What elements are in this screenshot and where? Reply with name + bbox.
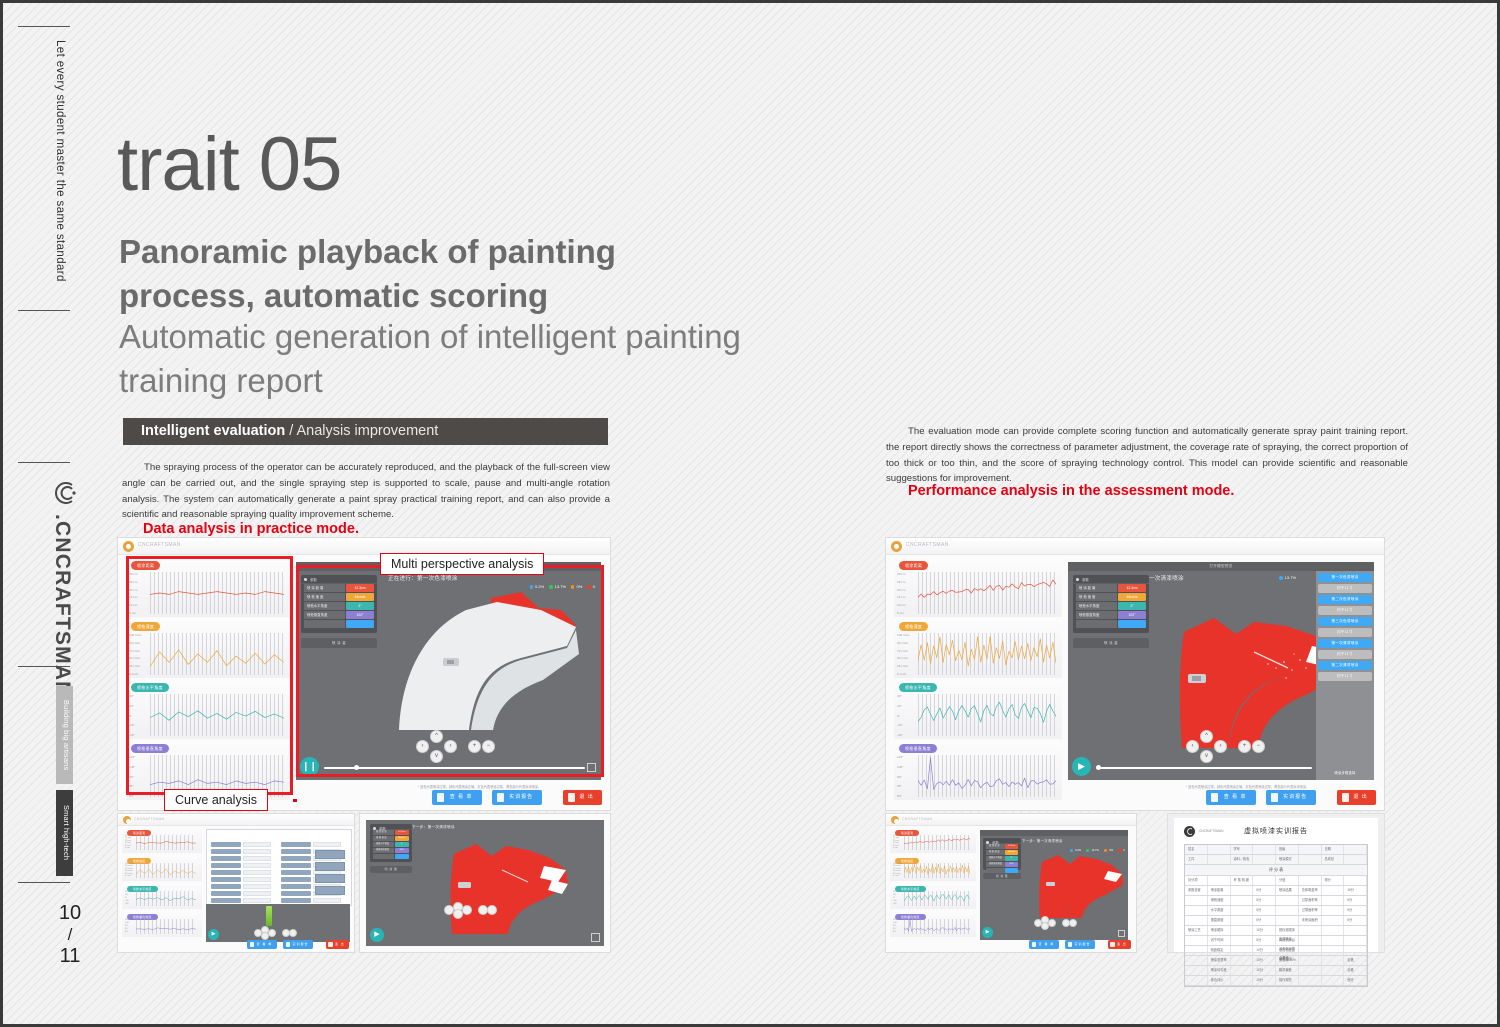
viewer-status-text: 下一步：第一次清漆喷涂 — [1022, 838, 1063, 843]
curve-y-tick: -40° — [893, 903, 897, 905]
callout-curve-analysis: Curve analysis — [164, 789, 268, 811]
curve-plot — [918, 572, 1056, 614]
curve-analysis-highlight — [126, 556, 293, 795]
viewer-controls[interactable]: ‹ ^ v › + − — [1186, 730, 1286, 760]
report-table-cell: 考 核 明 细 — [1231, 876, 1254, 885]
report-table-cell — [1276, 906, 1299, 915]
rail-divider — [18, 26, 70, 27]
curve-block: 喷枪垂直角度110°100°90°85°80° — [890, 911, 976, 937]
report-table-cell: 喷涂均匀度 — [1208, 966, 1231, 975]
curve-y-tick: 20 cm — [897, 588, 905, 592]
action-button-2[interactable]: 实训报告 — [1065, 940, 1095, 949]
curve-series — [904, 863, 970, 878]
parameter-value: 2° — [1005, 856, 1018, 861]
report-table-cell: 得分 — [1322, 876, 1345, 885]
report-table-cell: 枪距稳定 — [1208, 946, 1231, 955]
parameter-value: 102° — [395, 848, 409, 853]
action-button-1[interactable]: 查 看 单 — [1206, 790, 1256, 805]
curve-y-tick: 40° — [893, 891, 896, 893]
parameter-row — [373, 854, 409, 859]
trait-number: trait 05 — [117, 127, 341, 203]
play-button[interactable]: ▶ — [1072, 757, 1091, 776]
rotate-right-button[interactable] — [462, 905, 472, 915]
report-table-cell — [1322, 926, 1345, 935]
app-logo-icon — [891, 541, 902, 552]
report-table-cell — [1231, 936, 1254, 945]
curve-series — [918, 755, 1056, 797]
practice-form-screenshot[interactable]: CNCRAFTSMAN 喷涂距离30 cm25 cm20 cm15 cm10 c… — [118, 814, 354, 952]
report-table-cell — [1208, 845, 1231, 854]
report-table-row: 参数设置喷涂距离5分喷涂结果总体覆盖率15分 — [1185, 886, 1367, 896]
heading-bold: Panoramic playback of painting process, … — [119, 230, 759, 317]
report-table-cell — [1231, 886, 1254, 895]
rotate-right-button[interactable] — [1048, 919, 1056, 927]
form-field-value[interactable] — [243, 849, 271, 854]
report-table-cell: 重叠率 50% — [1276, 956, 1299, 965]
parameter-value: 12.3cm — [1005, 844, 1018, 849]
action-button-3[interactable]: 退 出 — [1337, 790, 1376, 805]
zoom-in-button[interactable]: + — [1238, 740, 1251, 753]
report-table-cell: 膜厚偏差 — [1276, 966, 1299, 975]
report-table-cell: 10分 — [1253, 966, 1276, 975]
form-field-label — [211, 870, 241, 875]
curve-series — [904, 891, 970, 906]
curve-plot — [136, 863, 196, 878]
report-table-cell: 涂料／颜色 — [1231, 855, 1254, 864]
progress-bar[interactable] — [1096, 767, 1312, 770]
action-button-3[interactable]: 退 出 — [563, 790, 602, 805]
form-action-chip[interactable] — [315, 874, 345, 883]
report-table-cell — [1299, 956, 1322, 965]
curve-y-tick: 90 cm/s — [897, 641, 908, 645]
report-table-cell — [1344, 855, 1367, 864]
app-title: CNCRAFTSMAN — [906, 542, 949, 548]
curve-y-tick: 0° — [125, 897, 127, 899]
report-table-cell: 喷涂顺序 — [1208, 926, 1231, 935]
form-field-value[interactable] — [313, 898, 341, 903]
action-button-label: 查 看 单 — [1224, 794, 1247, 800]
spray-step-button[interactable]: 闪干11寸 — [1318, 650, 1372, 659]
parameter-label: 喷枪水平角度 — [986, 856, 1005, 861]
parameter-label: 喷枪垂直角度 — [986, 862, 1005, 867]
report-table-cell — [1208, 876, 1231, 885]
report-table-cell: 喷涂模式 — [1276, 855, 1299, 864]
form-field-value[interactable] — [243, 870, 271, 875]
parameter-value: 102° — [1005, 862, 1018, 867]
left-red-caption: Data analysis in practice mode. — [143, 521, 359, 537]
report-table-cell: 喷涂距离 — [1208, 886, 1231, 895]
viewer-3d-small[interactable]: ▶ — [206, 904, 350, 942]
report-title: 虚拟喷漆实训报告 — [1244, 826, 1308, 836]
curve-y-tick: 110° — [125, 919, 129, 921]
parameter-row: 喷枪垂直角度102° — [373, 848, 409, 853]
rail-divider — [18, 882, 70, 883]
curve-y-tick: 85° — [897, 784, 902, 788]
play-button[interactable]: ▶ — [370, 928, 384, 942]
report-table-cell: 合格 — [1344, 956, 1367, 965]
report-table-cell: 5分 — [1253, 896, 1276, 905]
action-button-label: 实训报告 — [509, 794, 533, 800]
form-field-label — [211, 863, 241, 868]
parameter-row: 喷 枪 速 度45cm/s — [373, 836, 409, 841]
parameter-row: 喷 涂 距 离12.3cm — [986, 844, 1018, 849]
form-field-label — [281, 842, 311, 847]
form-field-label — [281, 898, 311, 903]
report-table-cell: 5分 — [1253, 906, 1276, 915]
curve-plot — [918, 694, 1056, 736]
spray-step-button[interactable]: 第二次色漆喷涂 — [1318, 595, 1372, 604]
parameter-label: 喷 涂 距 离 — [373, 830, 394, 835]
report-brand: CNCRAFTSMAN — [1199, 829, 1223, 833]
rotate-up-button[interactable]: ^ — [1200, 730, 1213, 743]
viewer-3d-assessment[interactable]: 打开模型预览 下一步：第一次清漆喷涂 13.7% 参数喷 涂 距 离12.3cm… — [1068, 562, 1374, 780]
form-field-label — [211, 849, 241, 854]
form-field-label — [211, 891, 241, 896]
report-table-cell — [1185, 956, 1208, 965]
form-field-value[interactable] — [243, 877, 271, 882]
form-field-value[interactable] — [243, 842, 271, 847]
report-table-cell: 操作规范 — [1276, 976, 1299, 985]
report-table-cell: 10分 — [1253, 976, 1276, 985]
spray-step-button[interactable]: 闪干11寸 — [1318, 672, 1372, 681]
report-table-cell: 5分 — [1344, 916, 1367, 925]
app-logo-icon — [891, 816, 899, 824]
spray-step-button[interactable]: 第三次色漆喷涂 — [1318, 617, 1372, 626]
action-button-label: 实训报告 — [1074, 942, 1090, 946]
curve-y-tick: 100° — [897, 765, 903, 769]
form-field-label — [281, 891, 311, 896]
curve-y-tick: -40° — [125, 903, 129, 905]
viewer-3d-large[interactable]: 下一步：第一次清漆喷涂 参数喷 涂 距 离12.3cm喷 枪 速 度45cm/s… — [366, 820, 604, 946]
form-field-value[interactable] — [243, 898, 271, 903]
button-icon — [1211, 793, 1219, 801]
curve-y-tick: 100° — [125, 922, 130, 924]
rail-chip-smart: Smart high-tech — [56, 790, 73, 876]
spray-volume-button[interactable]: 喷 涂 量 — [370, 866, 412, 873]
zoom-out-button[interactable]: − — [1252, 740, 1265, 753]
right-body-text: The evaluation mode can provide complete… — [886, 424, 1408, 487]
action-button-label: 查 看 单 — [450, 794, 473, 800]
action-button-label: 实训报告 — [292, 942, 308, 946]
curve-y-tick: 0° — [893, 897, 895, 899]
button-icon — [328, 942, 333, 947]
form-field-label — [211, 877, 241, 882]
app-title: CNCRAFTSMAN — [134, 817, 164, 821]
panel-dot-icon — [1076, 578, 1079, 581]
fender-model-3d[interactable] — [424, 828, 572, 934]
action-button-label: 退 出 — [579, 794, 593, 800]
report-table-row: 枪距稳定10分全程枪距波动范围内 — [1185, 946, 1367, 956]
app-title: CNCRAFTSMAN — [902, 817, 932, 821]
page-number-slash: / — [48, 925, 92, 945]
button-icon — [1271, 793, 1279, 801]
panel-header-label: 参数 — [1082, 577, 1089, 582]
curve-block: 喷枪速度100 cm/s90 cm/s70 cm/s50 cm/s25 cm/s… — [894, 619, 1062, 678]
report-table-cell: 总体覆盖率 — [1299, 886, 1322, 895]
curve-plot — [904, 891, 970, 906]
banner-rest: / Analysis improvement — [285, 423, 438, 439]
spray-step-sidebar[interactable]: 第一次色漆喷涂闪干11寸第二次色漆喷涂闪干11寸第三次色漆喷涂闪干11寸第一次清… — [1316, 571, 1374, 780]
form-field-label — [281, 863, 311, 868]
report-table-cell: 10分 — [1253, 926, 1276, 935]
curve-block: 喷枪速度100 cm/s90 cm/s70 cm/s50 cm/s25 cm/s… — [890, 855, 976, 881]
report-table-cell: 日期 — [1322, 845, 1345, 854]
report-table-cell — [1185, 906, 1208, 915]
action-button-1[interactable]: 查 看 单 — [1029, 940, 1059, 949]
report-table-cell: 15分 — [1344, 886, 1367, 895]
app-titlebar: CNCRAFTSMAN — [886, 814, 1136, 826]
form-field-label — [281, 856, 311, 861]
form-field-label — [211, 884, 241, 889]
curve-y-tick: 5 cm/s — [897, 672, 906, 676]
report-table-cell — [1185, 946, 1208, 955]
curve-y-tick: 85° — [893, 928, 896, 930]
form-field-value[interactable] — [243, 891, 271, 896]
report-table: 姓名学号班级日期工件涂料／颜色喷涂模式总成绩评 分 表评分项考 核 明 细分值得… — [1184, 844, 1368, 987]
assessment-mode-screenshot[interactable]: CNCRAFTSMAN 喷涂距离30 cm25 cm20 cm15 cm10 c… — [886, 538, 1384, 810]
action-button-label: 退 出 — [335, 942, 345, 946]
viewer-controls[interactable] — [1034, 916, 1094, 928]
button-icon — [1110, 942, 1115, 947]
report-table-cell: 5分 — [1344, 906, 1367, 915]
report-table-row: 喷涂工艺喷涂顺序10分按标准顺序完成喷涂 — [1185, 926, 1367, 936]
spray-step-button[interactable]: 第一次色漆喷涂 — [1318, 573, 1372, 582]
multi-perspective-highlight — [296, 565, 604, 777]
action-button-1[interactable]: 查 看 单 — [432, 790, 482, 805]
report-table-cell: 每道喷涂后闪干时间符合要求 — [1276, 936, 1299, 945]
left-rail: Let every student master the same standa… — [18, 14, 94, 1009]
curve-title-tag: 喷枪垂直角度 — [899, 744, 937, 753]
curve-title-tag: 喷枪速度 — [899, 622, 928, 631]
page-number-total: 11 — [48, 945, 92, 968]
action-button-2[interactable]: 实训报告 — [283, 940, 313, 949]
parameter-label: 喷 枪 速 度 — [373, 836, 394, 841]
report-table-cell — [1344, 946, 1367, 955]
spray-step-button[interactable]: 第二次清漆喷涂 — [1318, 661, 1372, 670]
report-table-cell: 喷涂工艺 — [1185, 926, 1208, 935]
curve-y-tick: 70 cm/s — [897, 649, 908, 653]
report-table-cell — [1253, 845, 1276, 854]
form-field-value[interactable] — [243, 863, 271, 868]
report-table-cell: 分值 — [1276, 876, 1299, 885]
curve-series — [918, 633, 1056, 675]
rotate-right-button[interactable]: › — [1214, 740, 1227, 753]
report-table-cell — [1185, 966, 1208, 975]
report-table-cell: 5分 — [1253, 916, 1276, 925]
fullscreen-icon[interactable] — [1118, 930, 1125, 937]
button-icon — [437, 793, 445, 801]
report-table-cell: 工件 — [1185, 855, 1208, 864]
curve-y-tick: 15 cm — [897, 595, 905, 599]
curve-y-tick: 20° — [125, 894, 128, 896]
curve-y-tick: 5 cm/s — [125, 875, 131, 877]
report-table-cell — [1344, 876, 1367, 885]
curve-y-tick: -20° — [897, 723, 903, 727]
curve-y-tick: 20° — [897, 704, 902, 708]
report-table-cell — [1231, 926, 1254, 935]
report-table-cell — [1299, 845, 1322, 854]
report-table-cell: 5分 — [1253, 936, 1276, 945]
action-button-3[interactable]: 退 出 — [1108, 940, 1131, 949]
play-button[interactable]: ▶ — [982, 927, 993, 938]
parameter-value: 2° — [395, 842, 409, 847]
report-table-cell — [1276, 916, 1299, 925]
report-table-cell — [1299, 855, 1322, 864]
panel-header: 参数 — [1073, 575, 1149, 584]
zoom-out-button[interactable] — [1069, 919, 1077, 927]
parameter-label: 喷 枪 速 度 — [986, 850, 1005, 855]
report-table-row: 喷枪速度5分过厚面积率5分 — [1185, 896, 1367, 906]
action-button-2[interactable]: 实训报告 — [1266, 790, 1316, 805]
rail-divider — [18, 310, 70, 311]
assessment-curves-screenshot[interactable]: CNCRAFTSMAN 喷涂距离30 cm25 cm20 cm15 cm10 c… — [886, 814, 1136, 952]
action-button-2[interactable]: 实训报告 — [492, 790, 542, 805]
curve-y-tick: 50 cm/s — [897, 656, 908, 660]
fullscreen-icon[interactable] — [591, 933, 600, 942]
form-action-chip[interactable] — [315, 862, 345, 871]
form-field-label — [281, 884, 311, 889]
action-button-3[interactable]: 退 出 — [326, 940, 349, 949]
curve-y-tick: 90° — [893, 925, 896, 927]
curve-y-tick: -20° — [893, 900, 897, 902]
parameter-value: 12.3cm — [395, 830, 409, 835]
spray-step-button[interactable]: 第一次清漆喷涂 — [1318, 639, 1372, 648]
training-report-document[interactable]: CNCRAFTSMAN 虚拟喷漆实训报告 姓名学号班级日期工件涂料／颜色喷涂模式… — [1174, 818, 1378, 952]
practice-3d-screenshot[interactable]: 下一步：第一次清漆喷涂 参数喷 涂 距 离12.3cm喷 枪 速 度45cm/s… — [360, 814, 610, 952]
parameter-row: 喷枪垂直角度102° — [986, 862, 1018, 867]
report-table-cell: 评分项 — [1185, 876, 1208, 885]
curve-block: 喷涂距离30 cm25 cm20 cm15 cm10 cm5 cm — [122, 827, 202, 853]
viewer-window-title: 打开模型预览 — [1209, 564, 1232, 569]
report-table-cell: 合格 — [1344, 966, 1367, 975]
action-button-label: 查 看 单 — [1039, 942, 1055, 946]
report-table-cell: 喷枪速度 — [1208, 896, 1231, 905]
viewer-3d-small[interactable]: 下一步：第一次清漆喷涂 0.2%13.7%0%0 参数喷 涂 距 离12.3cm… — [980, 830, 1128, 940]
curve-y-tick: 5 cm — [897, 611, 904, 615]
curve-y-tick: -20° — [125, 900, 129, 902]
curve-series — [918, 572, 1056, 614]
curve-y-tick: 100 cm/s — [897, 633, 910, 637]
viewer-controls[interactable] — [444, 902, 514, 916]
report-table-row: 水平角度5分过薄面积率5分 — [1185, 906, 1367, 916]
parameter-label: 喷枪垂直角度 — [1076, 611, 1117, 619]
fender-model-3d[interactable] — [1022, 844, 1126, 918]
action-button-label: 实训报告 — [1283, 794, 1307, 800]
curve-y-tick: 10 cm — [897, 603, 905, 607]
viewer-titlebar — [980, 830, 1128, 836]
button-icon — [497, 793, 505, 801]
page-number: 10 / 11 — [48, 902, 92, 968]
parameter-label: 喷 涂 距 离 — [1076, 584, 1117, 592]
curve-y-tick: 30 cm — [897, 572, 905, 576]
curve-plot — [136, 835, 196, 850]
report-table-cell: 全程枪距波动范围内 — [1276, 946, 1299, 955]
viewer-footnote: * 蓝色代表喷涂过薄，绿色代表喷涂正确，红色代表喷涂过厚，黑色部分代表尚未喷涂。 — [418, 784, 541, 789]
right-red-caption: Performance analysis in the assessment m… — [908, 483, 1234, 499]
report-table-row: 姓名学号班级日期 — [1185, 845, 1367, 855]
report-table-cell — [1185, 896, 1208, 905]
report-table-cell: 喷涂结果 — [1276, 886, 1299, 895]
form-action-chip[interactable] — [315, 850, 345, 859]
spray-step-button[interactable]: 闪干11寸 — [1318, 606, 1372, 615]
form-field-value[interactable] — [243, 884, 271, 889]
viewer-controls[interactable] — [254, 926, 314, 938]
spray-volume-button[interactable]: 喷 涂 量 — [983, 873, 1021, 879]
curve-block: 喷枪水平角度40°20°0°-20°-40° — [890, 883, 976, 909]
action-button-label: 退 出 — [1117, 942, 1127, 946]
report-table-cell — [1185, 976, 1208, 985]
report-table-cell — [1231, 916, 1254, 925]
button-icon — [250, 942, 255, 947]
report-table-row: 综合评价10分操作规范良好 — [1185, 976, 1367, 986]
rotate-down-button[interactable]: v — [1200, 750, 1213, 763]
report-table-cell — [1299, 976, 1322, 985]
report-table-cell — [1231, 946, 1254, 955]
curve-series — [136, 863, 196, 878]
parameter-label: 喷枪垂直角度 — [373, 848, 394, 853]
curve-y-tick: 110° — [897, 755, 903, 759]
report-table-cell — [1322, 966, 1345, 975]
viewer-titlebar: 打开模型预览 — [1068, 562, 1374, 571]
zoom-out-button[interactable] — [289, 929, 297, 937]
form-field-value[interactable] — [313, 842, 341, 847]
curve-y-tick: 40° — [897, 694, 902, 698]
rotate-left-button[interactable]: ‹ — [1186, 740, 1199, 753]
curve-plot — [918, 633, 1056, 675]
action-button-label: 退 出 — [1353, 794, 1367, 800]
report-table-row: 评分项考 核 明 细分值得分 — [1185, 876, 1367, 886]
rail-chip-building: Building big artisans — [56, 686, 73, 784]
rail-tagline: Let every student master the same standa… — [54, 40, 66, 282]
curve-analysis-panel: 喷涂距离30 cm25 cm20 cm15 cm10 cm5 cm喷枪速度100… — [894, 558, 1062, 802]
curve-plot — [904, 919, 970, 934]
form-action-chip[interactable] — [315, 886, 345, 895]
zoom-out-button[interactable] — [487, 905, 497, 915]
parameter-form-panel[interactable] — [206, 829, 352, 906]
curve-y-tick: -40° — [897, 733, 903, 737]
parameter-value — [395, 854, 409, 859]
form-field-label — [281, 849, 311, 854]
parameter-row: 喷 枪 速 度45cm/s — [986, 850, 1018, 855]
report-table-cell — [1253, 855, 1276, 864]
curve-series — [136, 891, 196, 906]
rail-divider — [18, 462, 70, 463]
report-table-cell: 喷涂重叠率 — [1208, 956, 1231, 965]
curve-series — [904, 919, 970, 934]
report-table-cell: 闪干时间 — [1208, 936, 1231, 945]
report-table-cell — [1322, 886, 1345, 895]
parameter-panel[interactable]: 参数喷 涂 距 离12.3cm喷 枪 速 度45cm/s喷枪水平角度2°喷枪垂直… — [983, 838, 1021, 870]
report-table-cell: 总成绩 — [1322, 855, 1345, 864]
page-number-current: 10 — [48, 902, 92, 925]
report-table-row: 喷涂重叠率10分重叠率 50%合格 — [1185, 956, 1367, 966]
curve-title-tag: 喷涂距离 — [899, 561, 928, 570]
rotate-right-button[interactable] — [268, 929, 276, 937]
report-table-cell: 良好 — [1344, 976, 1367, 985]
spray-step-button[interactable]: 闪干11寸 — [1318, 628, 1372, 637]
spray-step-button[interactable]: 闪干11寸 — [1318, 584, 1372, 593]
action-button-1[interactable]: 查 看 单 — [247, 940, 277, 949]
curve-analysis-panel: 喷涂距离30 cm25 cm20 cm15 cm10 cm5 cm喷枪速度100… — [890, 827, 976, 939]
curve-y-tick: 0° — [897, 714, 900, 718]
progress-handle[interactable] — [1096, 765, 1101, 770]
report-table-cell: 过厚面积率 — [1299, 896, 1322, 905]
report-table-cell — [1231, 966, 1254, 975]
parameter-panel[interactable]: 参数喷 涂 距 离12.3cm喷 枪 速 度45cm/s喷枪水平角度2°喷枪垂直… — [370, 824, 412, 862]
report-table-cell: 姓名 — [1185, 845, 1208, 854]
play-button[interactable]: ▶ — [208, 929, 219, 940]
form-field-value[interactable] — [243, 856, 271, 861]
